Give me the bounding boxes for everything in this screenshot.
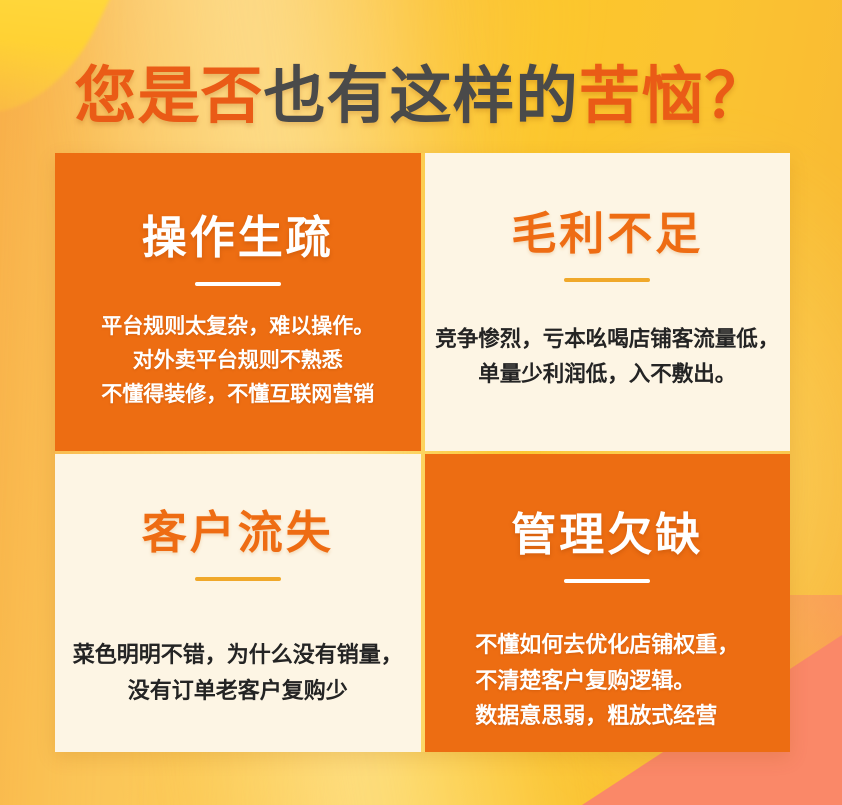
card-body-line: 没有订单老客户复购少 (73, 673, 403, 709)
card-title: 操作生疏 (142, 215, 334, 260)
card-title: 毛利不足 (511, 211, 703, 256)
promo-poster: 您是否也有这样的苦恼？ 操作生疏 平台规则太复杂，难以操作。 对外卖平台规则不熟… (0, 0, 842, 805)
card-divider (564, 579, 650, 583)
pain-point-card-grid: 操作生疏 平台规则太复杂，难以操作。 对外卖平台规则不熟悉 不懂得装修，不懂互联… (55, 153, 790, 752)
pain-point-card-operation-unfamiliar: 操作生疏 平台规则太复杂，难以操作。 对外卖平台规则不熟悉 不懂得装修，不懂互联… (55, 153, 421, 451)
card-body-line: 数据意思弱，粗放式经营 (475, 698, 739, 734)
card-body-line: 不懂如何去优化店铺权重， (475, 627, 739, 663)
card-body: 菜色明明不错，为什么没有销量， 没有订单老客户复购少 (73, 637, 403, 708)
page-title-segment-3: 苦恼？ (579, 62, 768, 131)
card-body-line: 单量少利润低，入不敷出。 (435, 357, 779, 392)
card-divider (195, 577, 281, 581)
card-title: 客户流失 (142, 510, 334, 555)
page-title: 您是否也有这样的苦恼？ (0, 66, 842, 128)
page-title-segment-1: 您是否 (74, 62, 263, 131)
card-body: 竞争惨烈，亏本吆喝店铺客流量低， 单量少利润低，入不敷出。 (435, 322, 779, 392)
pain-point-card-customer-churn: 客户流失 菜色明明不错，为什么没有销量， 没有订单老客户复购少 (55, 454, 421, 752)
card-body-line: 不清楚客户复购逻辑。 (475, 663, 739, 699)
page-title-segment-2: 也有这样的 (263, 62, 578, 131)
card-body-line: 竞争惨烈，亏本吆喝店铺客流量低， (435, 322, 779, 357)
card-body: 平台规则太复杂，难以操作。 对外卖平台规则不熟悉 不懂得装修，不懂互联网营销 (101, 310, 374, 412)
card-divider (564, 278, 650, 282)
card-body-line: 对外卖平台规则不熟悉 (101, 344, 374, 378)
pain-point-card-management-lacking: 管理欠缺 不懂如何去优化店铺权重， 不清楚客户复购逻辑。 数据意思弱，粗放式经营 (425, 454, 791, 752)
card-body: 不懂如何去优化店铺权重， 不清楚客户复购逻辑。 数据意思弱，粗放式经营 (475, 627, 739, 734)
card-body-line: 平台规则太复杂，难以操作。 (101, 310, 374, 344)
card-body-line: 不懂得装修，不懂互联网营销 (101, 378, 374, 412)
pain-point-card-gross-profit-insufficient: 毛利不足 竞争惨烈，亏本吆喝店铺客流量低， 单量少利润低，入不敷出。 (425, 153, 791, 451)
card-title: 管理欠缺 (511, 512, 703, 557)
card-divider (195, 282, 281, 286)
card-body-line: 菜色明明不错，为什么没有销量， (73, 637, 403, 673)
